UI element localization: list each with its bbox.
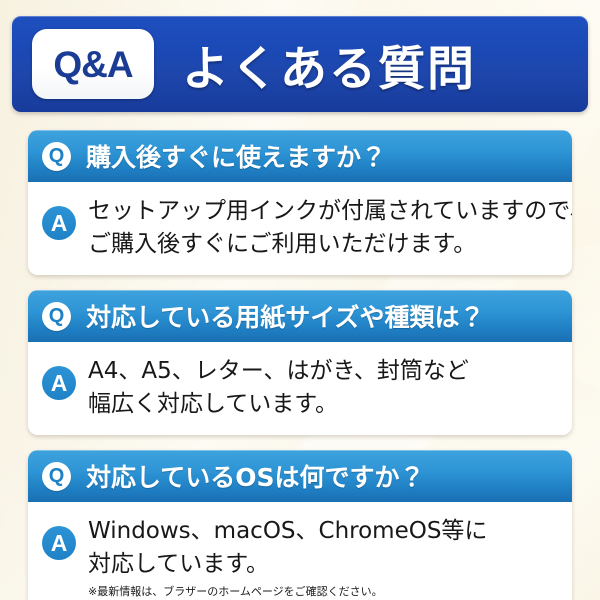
- faq-question-text: 対応しているOSは何ですか？: [86, 458, 425, 494]
- answer-marker-icon: A: [42, 366, 76, 400]
- question-marker-label: Q: [49, 306, 65, 326]
- faq-answer-line: Windows、macOS、ChromeOS等に: [88, 515, 558, 548]
- faq-answer-line: 幅広く対応しています。: [88, 388, 558, 421]
- faq-answer-body: A Windows、macOS、ChromeOS等に 対応しています。 ※最新情…: [28, 502, 572, 600]
- faq-answer-body: A セットアップ用インクが付属されていますので、 ご購入後すぐにご利用いただけま…: [28, 182, 572, 275]
- faq-answer-line: ご購入後すぐにご利用いただけます。: [88, 228, 558, 261]
- question-marker-label: Q: [49, 466, 65, 486]
- question-marker-label: Q: [49, 146, 65, 166]
- faq-question-text: 対応している用紙サイズや種類は？: [86, 298, 485, 334]
- faq-answer-line: セットアップ用インクが付属されていますので、: [88, 195, 558, 228]
- faq-item[interactable]: Q 対応している用紙サイズや種類は？ A A4、A5、レター、はがき、封筒など …: [28, 290, 572, 435]
- question-marker-icon: Q: [42, 302, 71, 331]
- answer-marker-label: A: [51, 532, 68, 555]
- faq-answer-line: A4、A5、レター、はがき、封筒など: [88, 355, 558, 388]
- faq-list: Q 購入後すぐに使えますか？ A セットアップ用インクが付属されていますので、 …: [28, 130, 572, 600]
- answer-marker-icon: A: [42, 206, 76, 240]
- faq-item[interactable]: Q 対応しているOSは何ですか？ A Windows、macOS、ChromeO…: [28, 450, 572, 600]
- qa-badge-label: Q&A: [53, 46, 132, 83]
- faq-answer-line: 対応しています。: [88, 548, 558, 581]
- faq-answer-note: ※最新情報は、ブラザーのホームページをご確認ください。: [88, 583, 558, 600]
- faq-item[interactable]: Q 購入後すぐに使えますか？ A セットアップ用インクが付属されていますので、 …: [28, 130, 572, 275]
- faq-header-banner: Q&A よくある質問: [12, 16, 588, 112]
- page-title: よくある質問: [182, 30, 476, 99]
- faq-question-header[interactable]: Q 購入後すぐに使えますか？: [28, 130, 572, 182]
- question-marker-icon: Q: [42, 142, 71, 171]
- faq-question-header[interactable]: Q 対応している用紙サイズや種類は？: [28, 290, 572, 342]
- faq-answer-text: A4、A5、レター、はがき、封筒など 幅広く対応しています。: [88, 355, 558, 421]
- answer-marker-label: A: [51, 212, 68, 235]
- faq-page: Q&A よくある質問 Q 購入後すぐに使えますか？ A セットアップ用インクが付…: [0, 0, 600, 600]
- faq-answer-text: Windows、macOS、ChromeOS等に 対応しています。 ※最新情報は…: [88, 515, 558, 600]
- question-marker-icon: Q: [42, 462, 71, 491]
- faq-question-text: 購入後すぐに使えますか？: [86, 138, 386, 174]
- faq-answer-text: セットアップ用インクが付属されていますので、 ご購入後すぐにご利用いただけます。: [88, 195, 558, 261]
- faq-question-header[interactable]: Q 対応しているOSは何ですか？: [28, 450, 572, 502]
- qa-badge: Q&A: [32, 29, 154, 99]
- answer-marker-icon: A: [42, 526, 76, 560]
- answer-marker-label: A: [51, 372, 68, 395]
- faq-answer-body: A A4、A5、レター、はがき、封筒など 幅広く対応しています。: [28, 342, 572, 435]
